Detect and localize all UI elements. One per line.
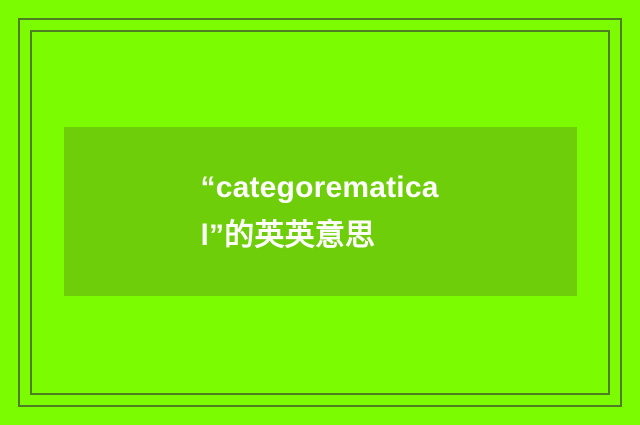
title-panel: “categorematical”的英英意思 [64,127,577,296]
page-canvas: “categorematical”的英英意思 [0,0,640,425]
page-title: “categorematical”的英英意思 [201,164,441,259]
